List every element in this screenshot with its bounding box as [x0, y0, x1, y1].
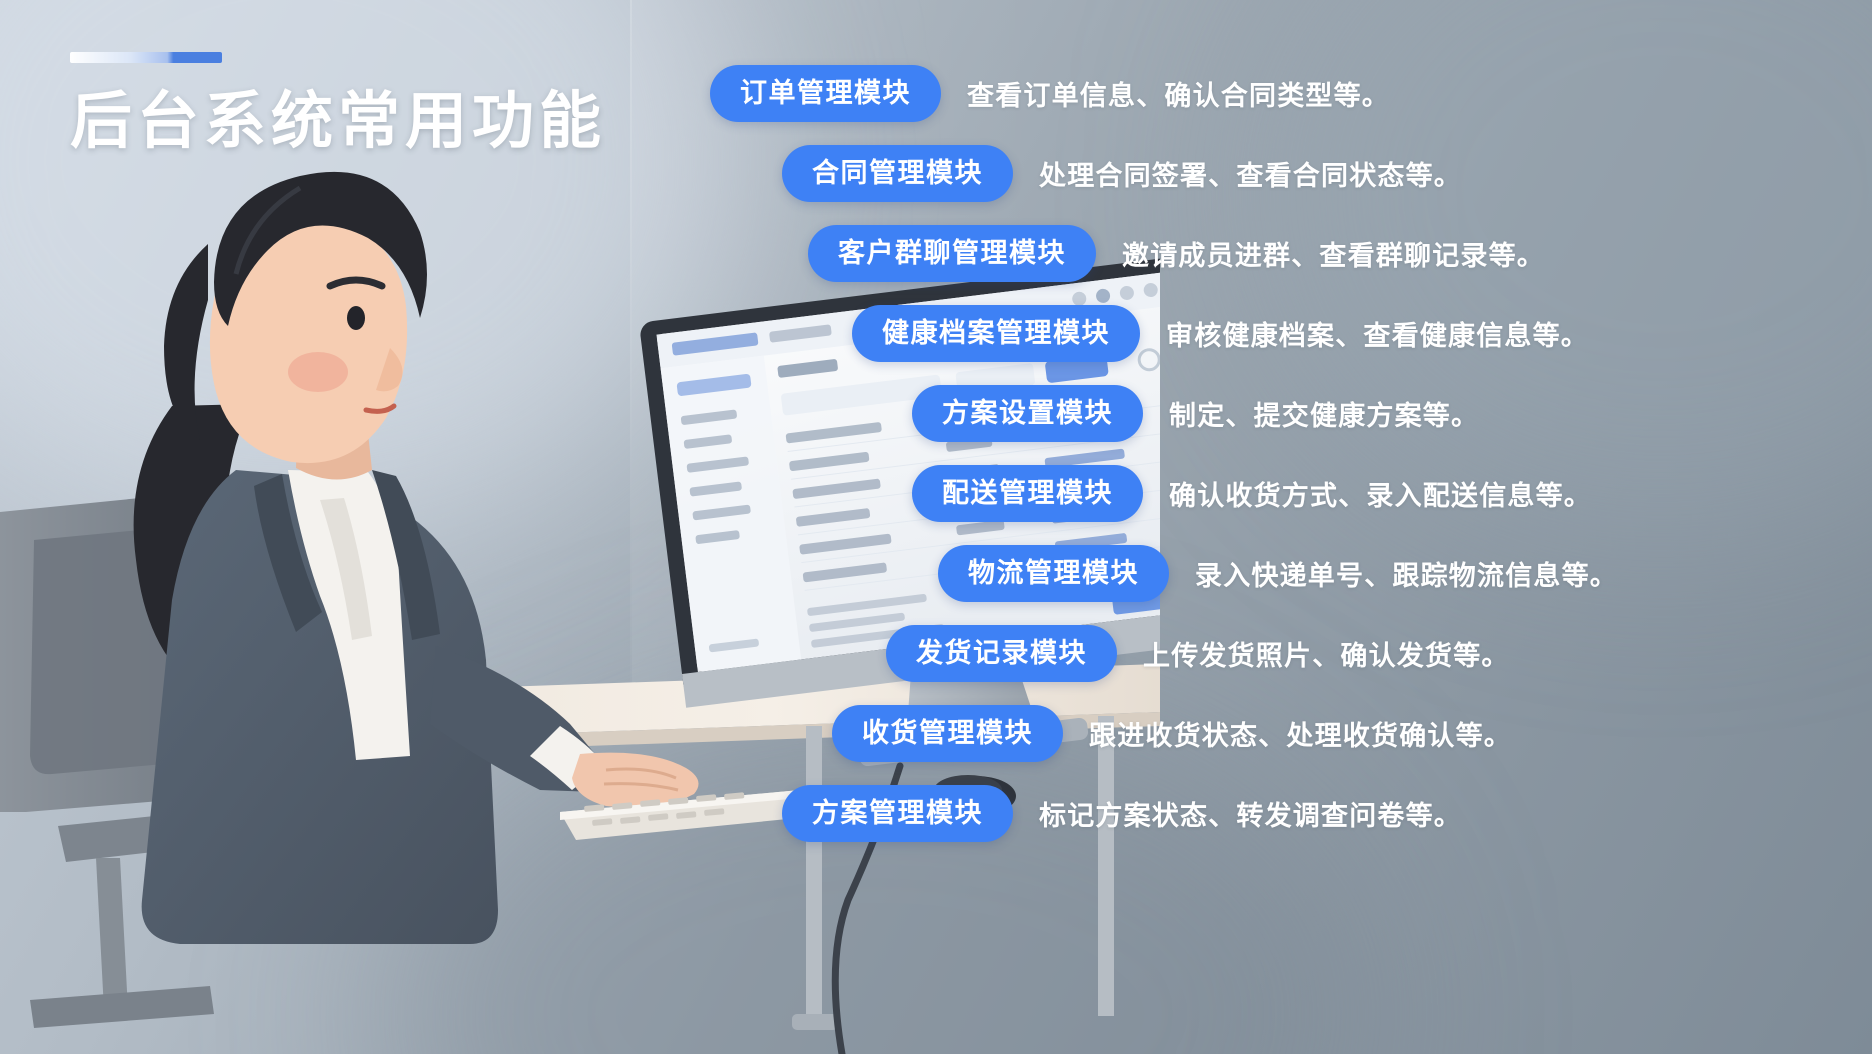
module-pill[interactable]: 订单管理模块 — [710, 65, 941, 122]
module-description: 处理合同签署、查看合同状态等。 — [1039, 154, 1462, 193]
module-row: 发货记录模块上传发货照片、确认发货等。 — [690, 622, 1872, 684]
module-description: 标记方案状态、转发调查问卷等。 — [1039, 794, 1462, 833]
module-row: 配送管理模块确认收货方式、录入配送信息等。 — [690, 462, 1872, 524]
module-description: 跟进收货状态、处理收货确认等。 — [1089, 714, 1512, 753]
module-list: 订单管理模块查看订单信息、确认合同类型等。合同管理模块处理合同签署、查看合同状态… — [690, 62, 1872, 862]
module-description: 审核健康档案、查看健康信息等。 — [1166, 314, 1589, 353]
infographic-canvas: 后台系统常用功能 订单管理模块查看订单信息、确认合同类型等。合同管理模块处理合同… — [0, 0, 1872, 1054]
module-pill[interactable]: 健康档案管理模块 — [852, 305, 1140, 362]
module-pill[interactable]: 合同管理模块 — [782, 145, 1013, 202]
module-description: 确认收货方式、录入配送信息等。 — [1169, 474, 1592, 513]
module-row: 客户群聊管理模块邀请成员进群、查看群聊记录等。 — [690, 222, 1872, 284]
module-pill[interactable]: 发货记录模块 — [886, 625, 1117, 682]
module-description: 制定、提交健康方案等。 — [1169, 394, 1479, 433]
module-description: 查看订单信息、确认合同类型等。 — [967, 74, 1390, 113]
module-pill[interactable]: 客户群聊管理模块 — [808, 225, 1096, 282]
module-row: 收货管理模块跟进收货状态、处理收货确认等。 — [690, 702, 1872, 764]
module-pill[interactable]: 物流管理模块 — [938, 545, 1169, 602]
module-pill[interactable]: 收货管理模块 — [832, 705, 1063, 762]
module-pill[interactable]: 方案管理模块 — [782, 785, 1013, 842]
module-description: 录入快递单号、跟踪物流信息等。 — [1195, 554, 1618, 593]
module-row: 物流管理模块录入快递单号、跟踪物流信息等。 — [690, 542, 1872, 604]
header: 后台系统常用功能 — [70, 52, 606, 154]
module-row: 合同管理模块处理合同签署、查看合同状态等。 — [690, 142, 1872, 204]
module-row: 方案设置模块制定、提交健康方案等。 — [690, 382, 1872, 444]
module-pill[interactable]: 配送管理模块 — [912, 465, 1143, 522]
module-row: 方案管理模块标记方案状态、转发调查问卷等。 — [690, 782, 1872, 844]
module-description: 邀请成员进群、查看群聊记录等。 — [1122, 234, 1545, 273]
module-description: 上传发货照片、确认发货等。 — [1143, 634, 1510, 673]
page-title: 后台系统常用功能 — [70, 89, 606, 154]
module-row: 健康档案管理模块审核健康档案、查看健康信息等。 — [690, 302, 1872, 364]
module-pill[interactable]: 方案设置模块 — [912, 385, 1143, 442]
module-row: 订单管理模块查看订单信息、确认合同类型等。 — [690, 62, 1872, 124]
accent-bar — [70, 52, 222, 63]
